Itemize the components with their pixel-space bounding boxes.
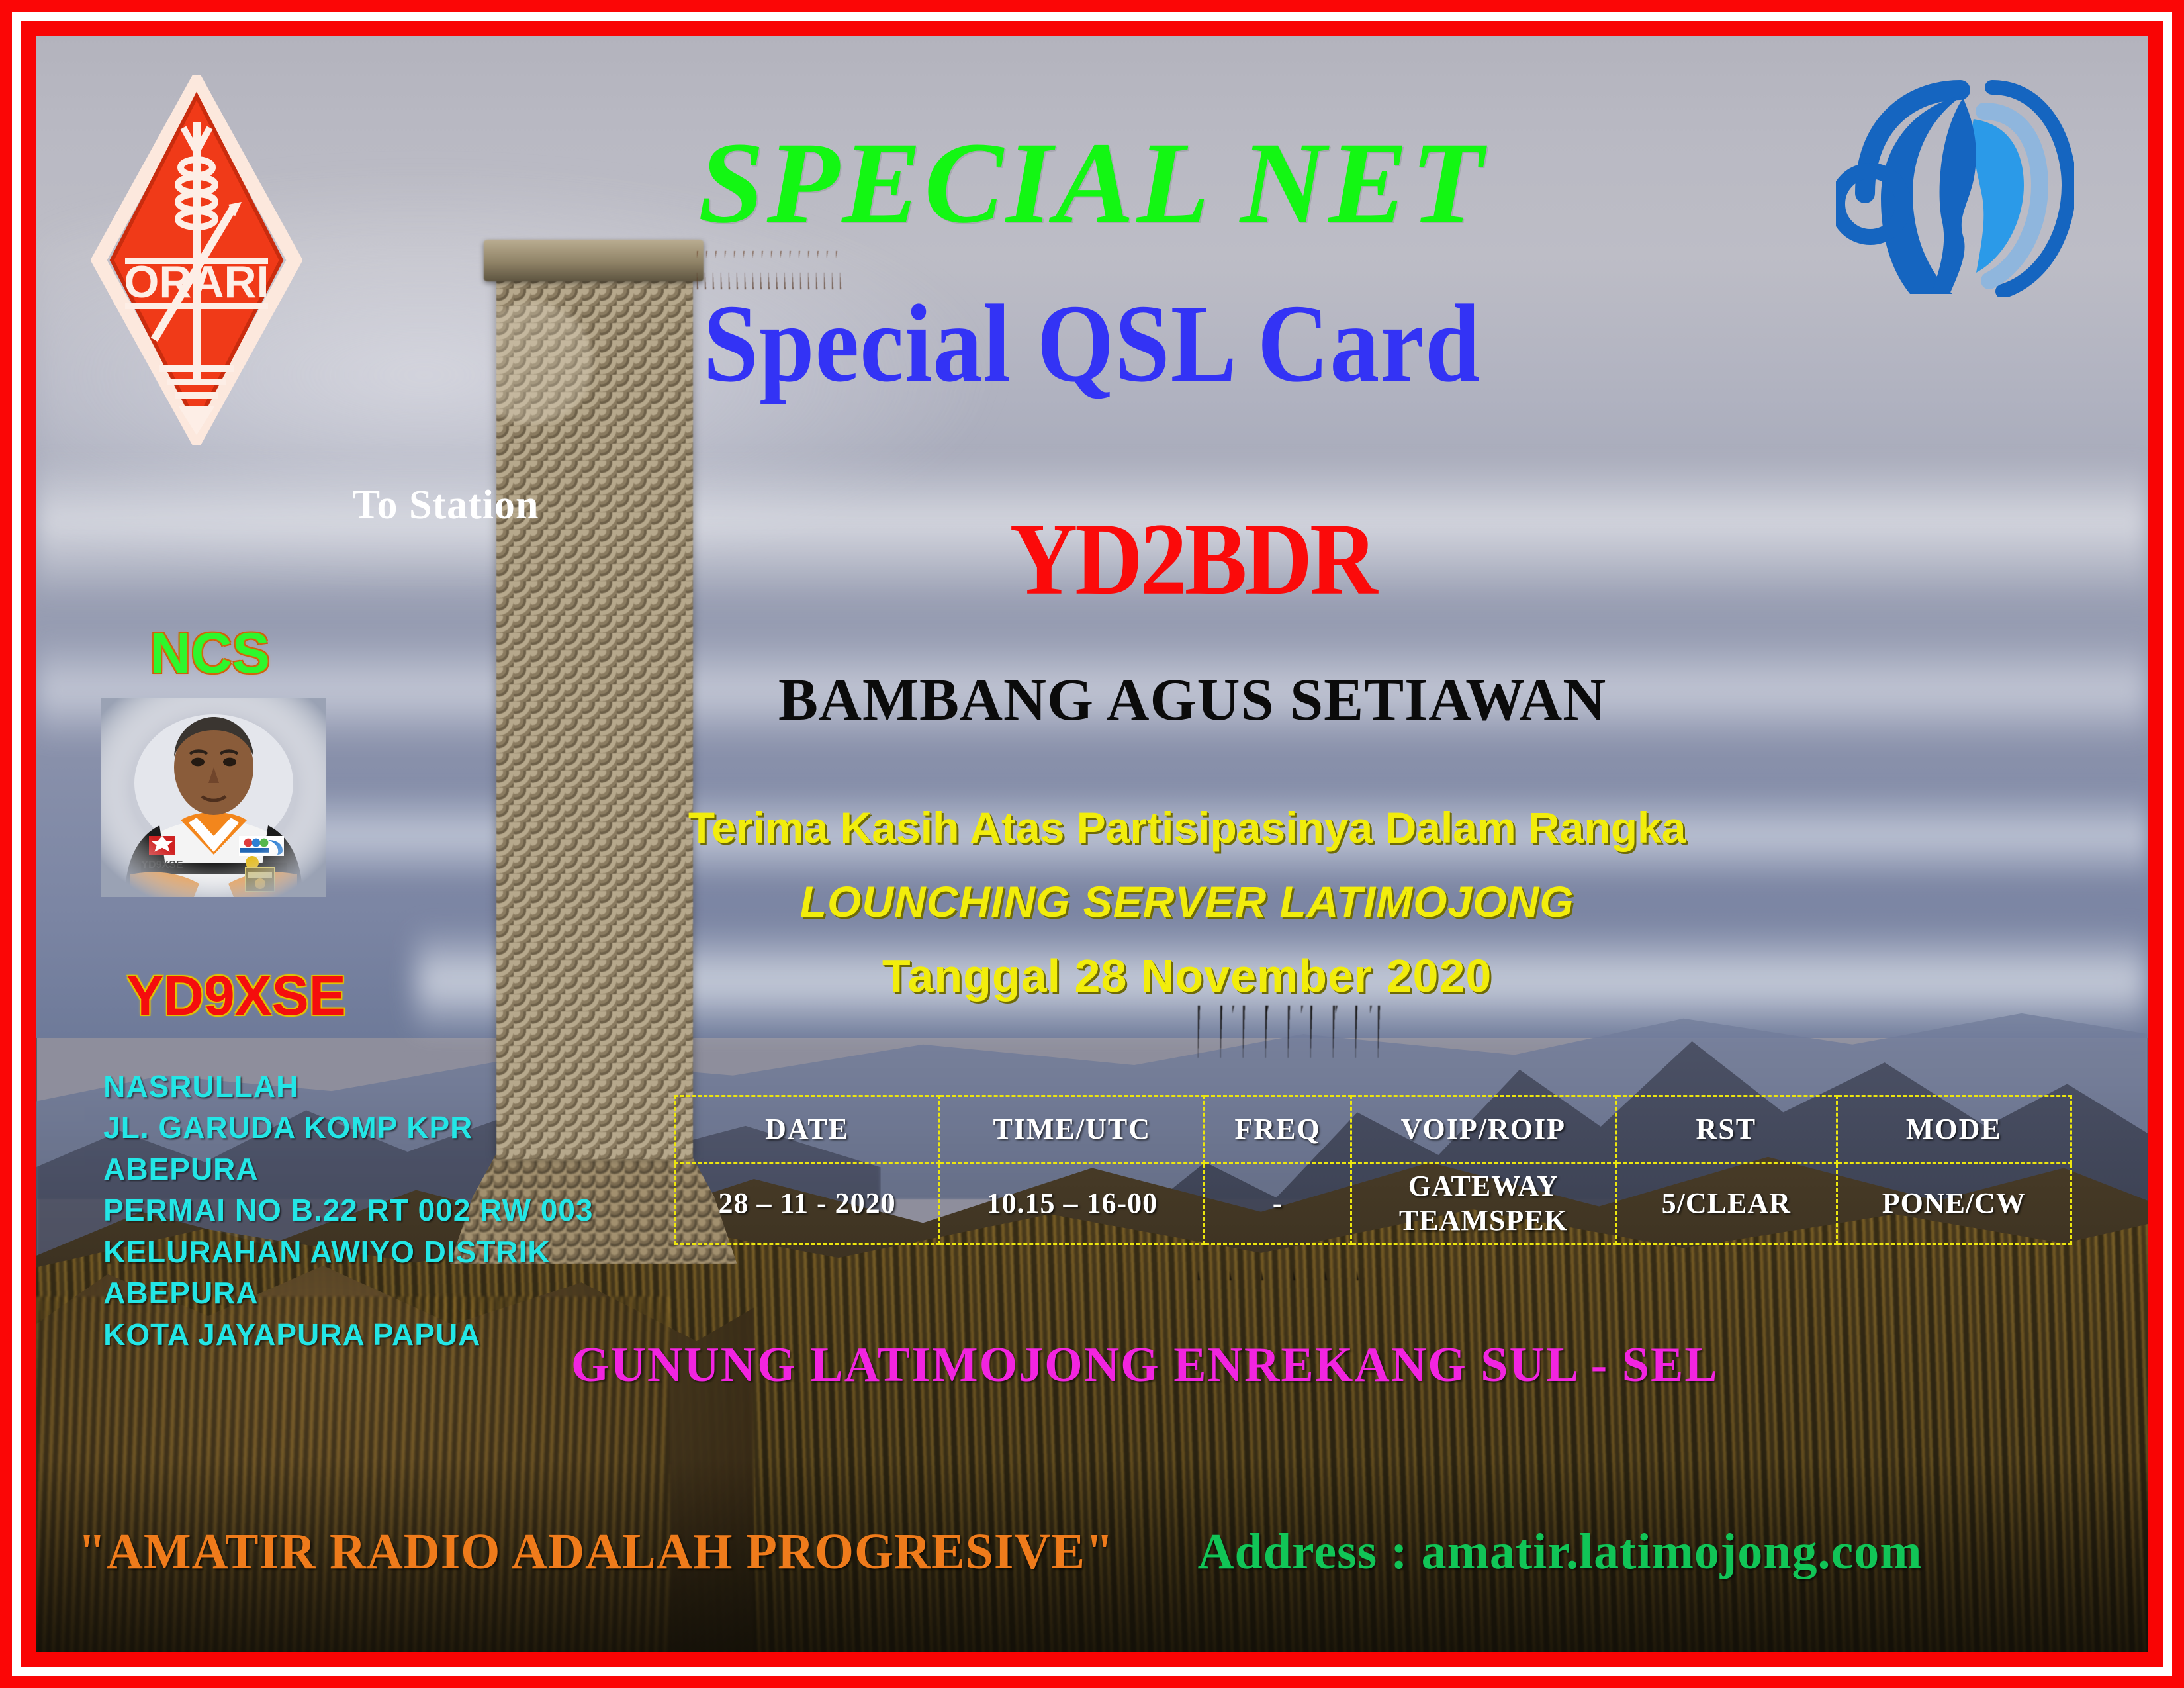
cell-voip: GATEWAY TEAMSPEK	[1351, 1162, 1615, 1244]
station-callsign: YD2BDR	[36, 499, 2148, 618]
mailing-address: NASRULLAH JL. GARUDA KOMP KPR ABEPURA PE…	[103, 1066, 593, 1356]
card-inner-red-border: ORARI SPECIAL NET Spe	[21, 21, 2163, 1667]
qsl-card: ORARI SPECIAL NET Spe	[0, 0, 2184, 1688]
footer-motto: "AMATIR RADIO ADALAH PROGRESIVE"	[78, 1523, 1114, 1581]
header-time: TIME/UTC	[940, 1096, 1205, 1162]
cell-voip-line2: TEAMSPEK	[1399, 1204, 1568, 1237]
address-line: KELURAHAN AWIYO DISTRIK	[103, 1231, 593, 1273]
page-subtitle: Special QSL Card	[36, 279, 2148, 407]
ncs-callsign: YD9XSE	[126, 964, 346, 1028]
address-line: ABEPURA	[103, 1149, 593, 1190]
event-name: LOUNCHING SERVER LATIMOJONG	[36, 876, 2148, 927]
header-mode: MODE	[1837, 1096, 2071, 1162]
event-date: Tanggal 28 November 2020	[36, 949, 2148, 1002]
table-header-row: DATE TIME/UTC FREQ VOIP/ROIP RST MODE	[674, 1096, 2071, 1162]
table-row: 28 – 11 - 2020 10.15 – 16-00 - GATEWAY T…	[674, 1162, 2071, 1244]
ncs-label: NCS	[150, 621, 270, 686]
cell-voip-line1: GATEWAY	[1408, 1170, 1559, 1202]
address-line: NASRULLAH	[103, 1066, 593, 1107]
header-rst: RST	[1615, 1096, 1837, 1162]
card-white-gap: ORARI SPECIAL NET Spe	[12, 12, 2172, 1676]
address-line: ABEPURA	[103, 1272, 593, 1314]
location-line: GUNUNG LATIMOJONG ENREKANG SUL - SEL	[36, 1337, 2148, 1393]
header-voip: VOIP/ROIP	[1351, 1096, 1615, 1162]
address-line: PERMAI NO B.22 RT 002 RW 003	[103, 1190, 593, 1231]
cell-freq: -	[1205, 1162, 1351, 1244]
operator-name: BAMBANG AGUS SETIAWAN	[36, 666, 2148, 734]
footer-web-address: Address : amatir.latimojong.com	[1198, 1523, 1923, 1581]
cell-time: 10.15 – 16-00	[940, 1162, 1205, 1244]
cell-date: 28 – 11 - 2020	[674, 1162, 939, 1244]
cell-mode: PONE/CW	[1837, 1162, 2071, 1244]
ncs-operator-photo: YD9XSE	[101, 698, 326, 897]
qso-log-table: DATE TIME/UTC FREQ VOIP/ROIP RST MODE 28…	[674, 1095, 2072, 1245]
address-line: JL. GARUDA KOMP KPR	[103, 1107, 593, 1149]
cell-rst: 5/CLEAR	[1615, 1162, 1837, 1244]
header-date: DATE	[674, 1096, 939, 1162]
thanks-line: Terima Kasih Atas Partisipasinya Dalam R…	[36, 802, 2148, 853]
card-photo-background: ORARI SPECIAL NET Spe	[36, 36, 2148, 1652]
header-freq: FREQ	[1205, 1096, 1351, 1162]
page-title: SPECIAL NET	[36, 117, 2148, 250]
